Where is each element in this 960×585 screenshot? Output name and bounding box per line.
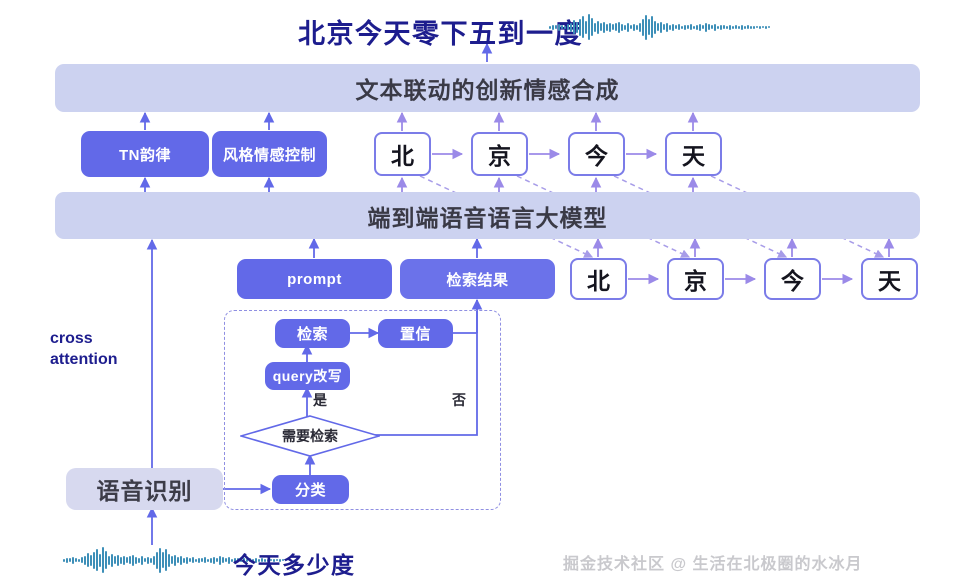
bottom-token-1[interactable]: 京 [667,258,724,300]
style-emotion-chip[interactable]: 风格情感控制 [212,131,327,177]
tn-prosody-chip[interactable]: TN韵律 [81,131,209,177]
headline-text: 北京今天零下五到一度 [298,12,583,51]
classify-chip[interactable]: 分类 [272,475,349,504]
bottom-token-2[interactable]: 今 [764,258,821,300]
decision-diamond-label: 需要检索 [240,415,380,457]
confidence-chip[interactable]: 置信 [378,319,453,348]
diagram-canvas: 北京今天零下五到一度 文本联动的创新情感合成 TN韵律 风格情感控制 北 京 今… [0,0,960,585]
top-token-2[interactable]: 今 [568,132,625,176]
rag-region-boundary [224,310,501,510]
branch-no-label: 否 [452,390,466,410]
top-token-3[interactable]: 天 [665,132,722,176]
cross-attention-label: crossattention [50,328,118,370]
asr-block: 语音识别 [66,468,223,510]
decision-diamond[interactable]: 需要检索 [240,415,380,457]
prompt-chip[interactable]: prompt [237,259,392,299]
watermark: 掘金技术社区 @ 生活在北极圈的水冰月 [563,550,863,574]
top-token-0[interactable]: 北 [374,132,431,176]
query-rewrite-chip[interactable]: query改写 [265,362,350,390]
retrieve-chip[interactable]: 检索 [275,319,350,348]
bottom-token-3[interactable]: 天 [861,258,918,300]
asr-input-text: 今天多少度 [233,546,356,580]
branch-yes-label: 是 [313,390,327,410]
retrieval-result-chip[interactable]: 检索结果 [400,259,555,299]
synthesis-bar: 文本联动的创新情感合成 [55,64,920,112]
top-token-1[interactable]: 京 [471,132,528,176]
bottom-token-0[interactable]: 北 [570,258,627,300]
waveform-top [549,12,770,42]
llm-bar: 端到端语音语言大模型 [55,192,920,239]
